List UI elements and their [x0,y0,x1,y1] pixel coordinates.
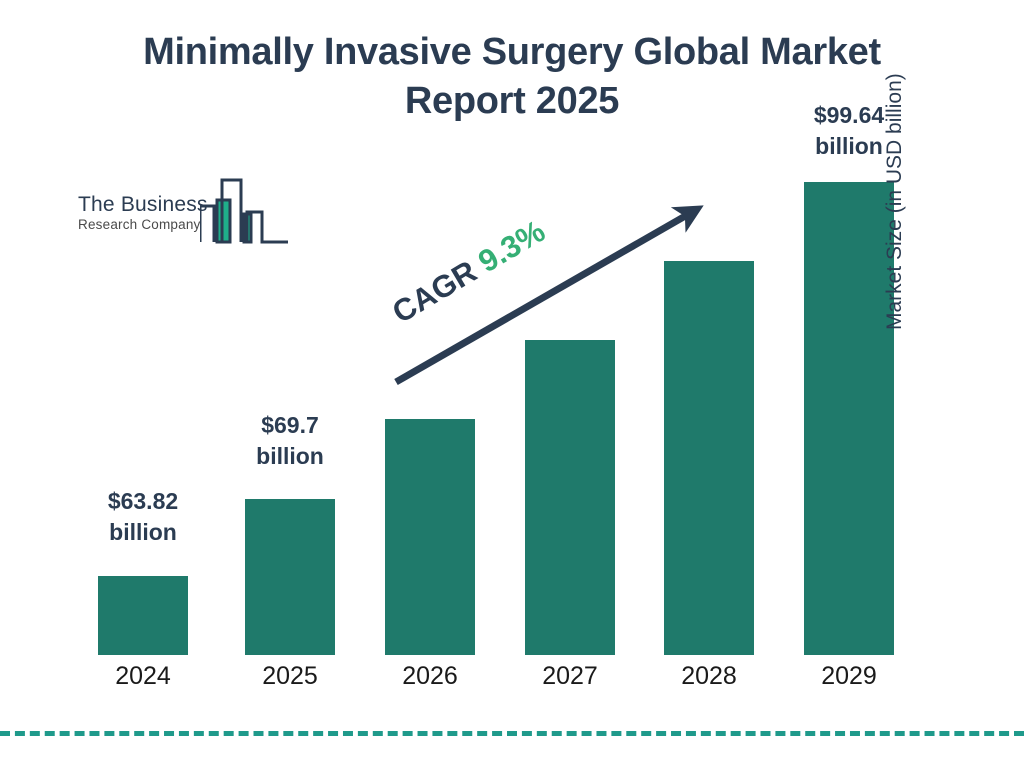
x-tick-2025: 2025 [230,661,350,691]
x-tick-2024: 2024 [83,661,203,691]
cagr-annotation: CAGR 9.3% [387,214,551,330]
x-tick-2026: 2026 [370,661,490,691]
x-tick-2027: 2027 [510,661,630,691]
bar-2027 [525,340,615,655]
bar-2024 [98,576,188,655]
bar-value-2025: $69.7 billion [225,410,355,472]
bar-2025 [245,499,335,655]
cagr-label-value: 9.3% [472,213,551,279]
bar-2029 [804,182,894,655]
bar-chart-plot-area: $63.82 billion $69.7 billion $99.64 bill… [0,0,1024,768]
cagr-label-word: CAGR [386,254,482,330]
bar-value-2024: $63.82 billion [78,486,208,548]
bar-2026 [385,419,475,655]
x-tick-2028: 2028 [649,661,769,691]
footer-dashed-divider [0,731,1024,736]
y-axis-title: Market Size (in USD billion) [883,10,907,330]
bar-2028 [664,261,754,655]
x-tick-2029: 2029 [789,661,909,691]
